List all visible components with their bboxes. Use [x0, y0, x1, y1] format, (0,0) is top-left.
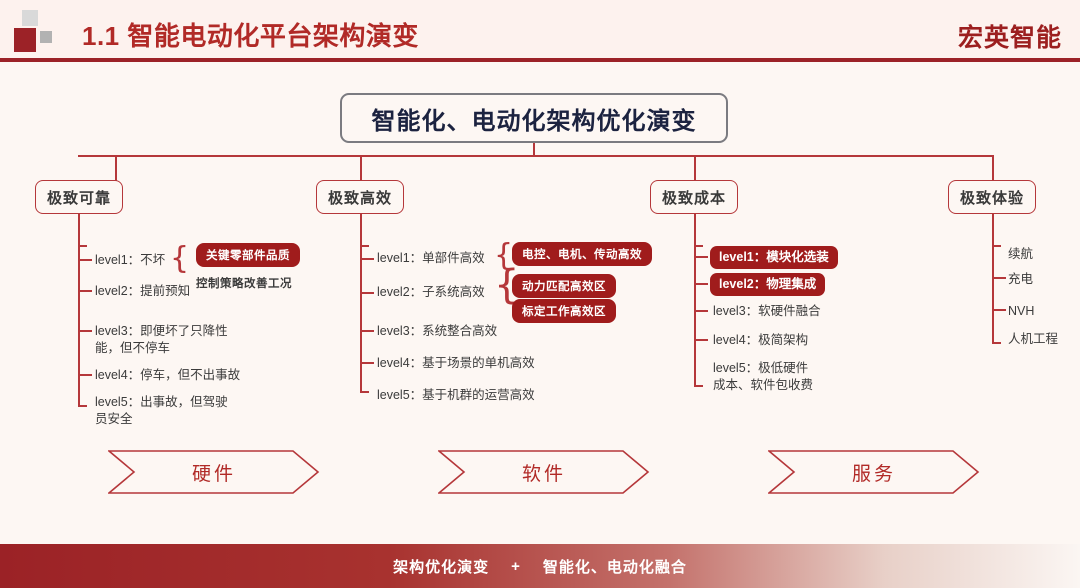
list-item: level1：单部件高效 [377, 250, 485, 267]
spine-col-reliable [78, 245, 80, 407]
list-item: level5：出事故，但驾驶 员安全 [95, 394, 228, 428]
branch-col2-2 [360, 292, 374, 294]
tag-motor-drive-efficiency: 电控、电机、传动高效 [512, 242, 652, 266]
tag-control-strategy: 控制策略改善工况 [196, 271, 292, 295]
list-item: level3：系统整合高效 [377, 323, 497, 340]
list-item: level4：停车，但不出事故 [95, 367, 240, 384]
decoration-square-gray-small [40, 31, 52, 43]
footer-right-text: 智能化、电动化融合 [543, 556, 687, 577]
chevron-service-label: 服务 [768, 450, 980, 494]
tag-power-match-zone: 动力匹配高效区 [512, 274, 616, 298]
spine-col-experience [992, 245, 994, 344]
list-item: level2：子系统高效 [377, 284, 485, 301]
page-title: 1.1 智能电动化平台架构演变 [82, 16, 419, 53]
chevron-software-label: 软件 [438, 450, 650, 494]
list-item: 充电 [1008, 271, 1033, 288]
connector-drop-reliable [115, 155, 117, 183]
category-box-cost[interactable]: 极致成本 [650, 180, 738, 214]
category-box-efficient[interactable]: 极致高效 [316, 180, 404, 214]
root-title-box: 智能化、电动化架构优化演变 [340, 93, 728, 143]
connector-drop-efficient [360, 155, 362, 183]
branch-col3-3 [694, 310, 708, 312]
decoration-square-gray-top [22, 10, 38, 26]
brand-logo: 宏英智能 [958, 18, 1062, 54]
tag-calibration-zone: 标定工作高效区 [512, 299, 616, 323]
connector-horizontal-bar [78, 155, 994, 157]
branch-col2-4 [360, 362, 374, 364]
category-box-experience[interactable]: 极致体验 [948, 180, 1036, 214]
slide-header: 1.1 智能电动化平台架构演变 宏英智能 [0, 0, 1080, 62]
footer-left-text: 架构优化演变 [393, 556, 489, 577]
list-item: level3：软硬件融合 [713, 303, 821, 320]
list-item: level1：不坏 [95, 252, 165, 269]
footer-plus: + [511, 558, 521, 575]
branch-col3-4 [694, 339, 708, 341]
branch-col2-3 [360, 330, 374, 332]
branch-col1-1 [78, 259, 92, 261]
list-item: level5：基于机群的运营高效 [377, 387, 535, 404]
list-item: level1：模块化选装 [710, 246, 838, 269]
list-item: level4：极简架构 [713, 332, 808, 349]
slide-root: 1.1 智能电动化平台架构演变 宏英智能 智能化、电动化架构优化演变 极致可靠 … [0, 0, 1080, 588]
list-item: level2：提前预知 [95, 283, 190, 300]
connector-drop-cost [694, 155, 696, 183]
list-item: 人机工程 [1008, 331, 1058, 348]
branch-col4-3 [992, 309, 1006, 311]
spine-col-efficient [360, 245, 362, 393]
tag-key-component-quality: 关键零部件品质 [196, 243, 300, 267]
list-item: level5：极低硬件 成本、软件包收费 [713, 360, 813, 394]
spine-col-cost [694, 245, 696, 387]
branch-col1-2 [78, 290, 92, 292]
slide-footer: 架构优化演变 + 智能化、电动化融合 [0, 544, 1080, 588]
branch-col4-2 [992, 277, 1006, 279]
list-item: 续航 [1008, 246, 1033, 263]
category-box-reliable[interactable]: 极致可靠 [35, 180, 123, 214]
branch-col1-4 [78, 374, 92, 376]
branch-col2-1 [360, 258, 374, 260]
branch-col3-2 [694, 283, 708, 285]
header-divider [0, 58, 1080, 62]
branch-col3-1 [694, 256, 708, 258]
chevron-hardware-label: 硬件 [108, 450, 320, 494]
list-item: NVH [1008, 303, 1034, 320]
list-item: level4：基于场景的单机高效 [377, 355, 535, 372]
branch-col1-3 [78, 330, 92, 332]
brace-col1: { [170, 244, 189, 274]
list-item: level2：物理集成 [710, 273, 825, 296]
connector-drop-experience [992, 155, 994, 183]
decoration-square-red [14, 28, 36, 52]
list-item: level3：即便坏了只降性 能，但不停车 [95, 323, 228, 357]
